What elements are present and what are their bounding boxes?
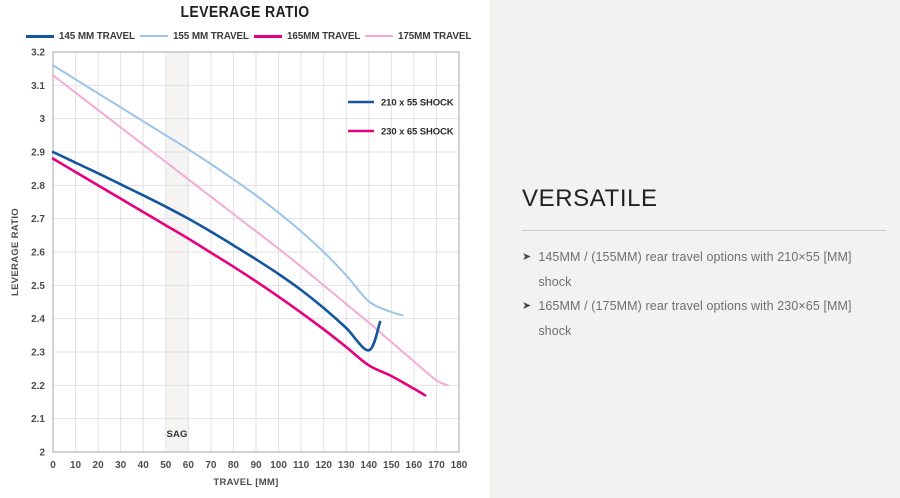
y-axis-tick-label: 2.4 xyxy=(31,314,45,325)
y-axis-tick-label: 2.1 xyxy=(31,414,45,425)
list-item: ➤ 145MM / (155MM) rear travel options wi… xyxy=(522,245,886,294)
x-axis-tick-label: 90 xyxy=(250,460,262,471)
x-axis-title: TRAVEL [MM] xyxy=(213,477,278,488)
y-axis-tick-label: 2.9 xyxy=(31,148,45,159)
y-axis-tick-label: 2.2 xyxy=(31,381,45,392)
y-axis-tick-label: 2 xyxy=(39,448,45,459)
x-axis-tick-label: 120 xyxy=(315,460,332,471)
x-axis-tick-label: 0 xyxy=(50,460,56,471)
x-axis-tick-label: 30 xyxy=(115,460,127,471)
y-axis-title: LEVERAGE RATIO xyxy=(10,208,21,296)
y-axis-tick-label: 3 xyxy=(39,114,45,125)
x-axis-tick-label: 40 xyxy=(138,460,150,471)
versatile-info-panel: VERSATILE ➤ 145MM / (155MM) rear travel … xyxy=(490,0,900,498)
x-axis-tick-label: 150 xyxy=(383,460,400,471)
inner-legend-label-2: 230 x 65 SHOCK xyxy=(381,127,454,138)
x-axis-tick-label: 160 xyxy=(406,460,423,471)
page-root: LEVERAGE RATIO 145 MM TRAVEL 155 MM TRAV… xyxy=(0,0,900,498)
plot-area-wrapper: 210 x 55 SHOCK230 x 65 SHOCK22.12.22.32.… xyxy=(0,0,490,498)
y-axis-tick-label: 3.2 xyxy=(31,48,45,59)
y-axis-tick-label: 2.8 xyxy=(31,181,45,192)
x-axis-tick-label: 70 xyxy=(205,460,217,471)
x-axis-tick-label: 100 xyxy=(270,460,287,471)
x-axis-tick-label: 110 xyxy=(293,460,310,471)
arrow-right-icon: ➤ xyxy=(522,301,531,312)
x-axis-tick-label: 50 xyxy=(160,460,172,471)
inner-legend-label-1: 210 x 55 SHOCK xyxy=(381,98,454,109)
y-axis-tick-label: 2.7 xyxy=(31,214,45,225)
y-axis-tick-label: 3.1 xyxy=(31,81,45,92)
info-content: VERSATILE ➤ 145MM / (155MM) rear travel … xyxy=(522,186,886,343)
x-axis-tick-label: 10 xyxy=(70,460,82,471)
x-axis-tick-label: 20 xyxy=(93,460,105,471)
x-axis-tick-label: 180 xyxy=(451,460,468,471)
y-axis-tick-label: 2.5 xyxy=(31,281,45,292)
leverage-ratio-chart-panel: LEVERAGE RATIO 145 MM TRAVEL 155 MM TRAV… xyxy=(0,0,490,498)
arrow-right-icon: ➤ xyxy=(522,252,531,263)
x-axis-tick-label: 140 xyxy=(360,460,377,471)
leverage-ratio-plot: 210 x 55 SHOCK230 x 65 SHOCK22.12.22.32.… xyxy=(0,0,490,498)
y-axis-tick-label: 2.3 xyxy=(31,348,45,359)
x-axis-tick-label: 60 xyxy=(183,460,195,471)
feature-bullet-list: ➤ 145MM / (155MM) rear travel options wi… xyxy=(522,245,886,343)
horizontal-divider xyxy=(522,230,886,231)
y-axis-tick-label: 2.6 xyxy=(31,248,45,259)
x-axis-tick-label: 170 xyxy=(428,460,445,471)
x-axis-tick-label: 80 xyxy=(228,460,240,471)
list-item: ➤ 165MM / (175MM) rear travel options wi… xyxy=(522,294,886,343)
info-panel-heading: VERSATILE xyxy=(522,186,886,212)
sag-label: SAG xyxy=(166,429,187,440)
x-axis-tick-label: 130 xyxy=(338,460,355,471)
bullet-text: 165MM / (175MM) rear travel options with… xyxy=(538,294,886,343)
bullet-text: 145MM / (155MM) rear travel options with… xyxy=(538,245,886,294)
